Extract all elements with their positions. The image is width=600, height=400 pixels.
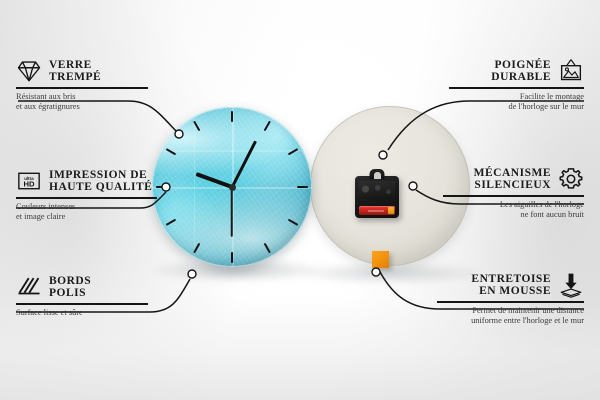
callout-impression-haute-qualite[interactable]: ultra HD IMPRESSION DE HAUTE QUALITÉ Cou… [16, 168, 160, 222]
callout-bords-polis[interactable]: BORDS POLIS Surface lisse et sûre [16, 274, 151, 318]
callout-header: ultra HD IMPRESSION DE HAUTE QUALITÉ [16, 168, 160, 194]
foam-spacer-icon [558, 272, 584, 298]
quartz-movement [355, 176, 399, 218]
callout-title: IMPRESSION DE HAUTE QUALITÉ [49, 169, 152, 194]
callout-poignee-durable[interactable]: POIGNÉE DURABLE Facilite le montage de l… [449, 58, 584, 112]
callout-rule [449, 87, 584, 89]
callout-rule [16, 87, 148, 89]
ultra-hd-icon: ultra HD [16, 168, 42, 194]
foam-spacer [372, 251, 389, 268]
callout-subtitle-1: Facilite le montage [449, 92, 584, 102]
callout-subtitle-2: uniforme entre l'horloge et le mur [437, 316, 584, 326]
callout-subtitle-1: Surface lisse et sûre [16, 308, 151, 318]
movement-detail [359, 181, 395, 199]
callout-subtitle-1: Les aiguilles de l'horloge [443, 200, 584, 210]
callout-title: POIGNÉE DURABLE [491, 59, 551, 84]
callout-subtitle-1: Couleurs intenses [16, 202, 160, 212]
callout-header: VERRE TREMPÉ [16, 58, 151, 84]
callout-entretoise-en-mousse[interactable]: ENTRETOISE EN MOUSSE Permet de maintenir… [437, 272, 584, 326]
callout-header: BORDS POLIS [16, 274, 151, 300]
callout-subtitle-1: Permet de maintenir une distance [437, 306, 584, 316]
polished-edges-icon [16, 274, 42, 300]
callout-title: VERRE TREMPÉ [49, 59, 101, 84]
callout-header: POIGNÉE DURABLE [449, 58, 584, 84]
callout-subtitle-2: et aux égratignures [16, 102, 151, 112]
callout-header: MÉCANISME SILENCIEUX [443, 166, 584, 192]
callout-subtitle-2: de l'horloge sur le mur [449, 102, 584, 112]
svg-text:HD: HD [23, 180, 35, 189]
callout-title: MÉCANISME SILENCIEUX [474, 167, 551, 192]
clock-bezel [152, 107, 312, 267]
battery [359, 206, 395, 215]
hanging-tab-icon [370, 169, 385, 179]
callout-header: ENTRETOISE EN MOUSSE [437, 272, 584, 298]
gear-icon [558, 166, 584, 192]
callout-subtitle-1: Résistant aux bris [16, 92, 151, 102]
callout-rule [443, 195, 584, 197]
callout-verre-trempe[interactable]: VERRE TREMPÉ Résistant aux bris et aux é… [16, 58, 151, 112]
callout-rule [437, 301, 584, 303]
callout-subtitle-2: ne font aucun bruit [443, 210, 584, 220]
clock-front [152, 107, 312, 267]
callout-rule [16, 197, 157, 199]
picture-hanger-icon [558, 58, 584, 84]
diamond-icon [16, 58, 42, 84]
callout-mecanisme-silencieux[interactable]: MÉCANISME SILENCIEUX Les aiguilles de l'… [443, 166, 584, 220]
callout-title: BORDS POLIS [49, 275, 91, 300]
callout-rule [16, 303, 148, 305]
infographic-stage: VERRE TREMPÉ Résistant aux bris et aux é… [0, 0, 600, 400]
callout-subtitle-2: et image claire [16, 212, 160, 222]
callout-title: ENTRETOISE EN MOUSSE [471, 273, 551, 298]
